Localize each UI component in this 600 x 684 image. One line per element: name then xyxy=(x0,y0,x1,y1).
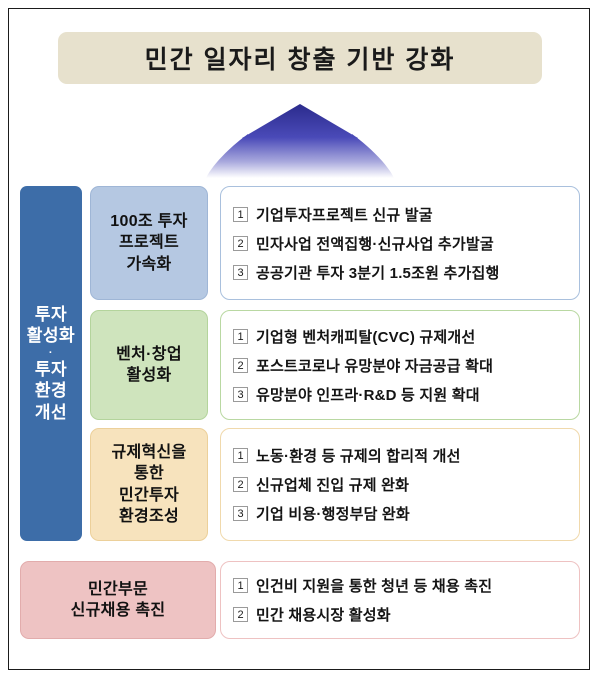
item-text: 기업 비용·행정부담 완화 xyxy=(256,503,410,524)
detail-box-2: 1 기업형 벤처캐피탈(CVC) 규제개선 2 포스트코로나 유망분야 자금공급… xyxy=(220,310,580,420)
list-item: 3 공공기관 투자 3분기 1.5조원 추가집행 xyxy=(233,258,569,287)
list-item: 3 기업 비용·행정부담 완화 xyxy=(233,499,569,528)
sidebar-line-1: 투자 xyxy=(35,305,67,324)
item-text: 기업투자프로젝트 신규 발굴 xyxy=(256,204,433,225)
list-item: 1 노동·환경 등 규제의 합리적 개선 xyxy=(233,441,569,470)
item-number-badge: 1 xyxy=(233,329,248,344)
item-text: 공공기관 투자 3분기 1.5조원 추가집행 xyxy=(256,262,499,283)
category-box-2: 벤처·창업 활성화 xyxy=(90,310,208,420)
category-box-3: 규제혁신을 통한 민간투자 환경조성 xyxy=(90,428,208,541)
item-text: 민간 채용시장 활성화 xyxy=(256,604,391,625)
bottom-category-line-2: 신규채용 촉진 xyxy=(71,602,166,619)
item-number-badge: 3 xyxy=(233,506,248,521)
item-number-badge: 2 xyxy=(233,358,248,373)
category-label-private-hiring: 민간부문 신규채용 촉진 xyxy=(71,579,166,622)
list-item: 1 인건비 지원을 통한 청년 등 채용 촉진 xyxy=(233,571,569,600)
item-number-badge: 2 xyxy=(233,477,248,492)
detail-box-1: 1 기업투자프로젝트 신규 발굴 2 민자사업 전액집행·신규사업 추가발굴 3… xyxy=(220,186,580,300)
category-2-line-1: 벤처·창업 xyxy=(116,346,182,363)
list-item: 1 기업투자프로젝트 신규 발굴 xyxy=(233,200,569,229)
category-box-private-hiring: 민간부문 신규채용 촉진 xyxy=(20,561,216,639)
main-title-box: 민간 일자리 창출 기반 강화 xyxy=(58,32,542,84)
page-title: 민간 일자리 창출 기반 강화 xyxy=(145,40,456,76)
category-label-1: 100조 투자 프로젝트 가속화 xyxy=(110,211,187,275)
category-1-line-1: 100조 투자 xyxy=(110,213,187,230)
sidebar-label: 투자 활성화 · 투자 환경 개선 xyxy=(27,304,75,423)
sidebar-line-2: 활성화 xyxy=(27,326,75,345)
category-label-3: 규제혁신을 통한 민간투자 환경조성 xyxy=(111,442,186,528)
category-3-line-3: 민간투자 xyxy=(119,487,179,504)
item-text: 민자사업 전액집행·신규사업 추가발굴 xyxy=(256,233,494,254)
category-3-line-2: 통한 xyxy=(134,465,164,482)
list-item: 3 유망분야 인프라·R&D 등 지원 확대 xyxy=(233,380,569,409)
infographic-page: 민간 일자리 창출 기반 강화 투자 활성화 · 투자 환경 개선 xyxy=(0,0,600,684)
list-item: 2 민자사업 전액집행·신규사업 추가발굴 xyxy=(233,229,569,258)
detail-box-3: 1 노동·환경 등 규제의 합리적 개선 2 신규업체 진입 규제 완화 3 기… xyxy=(220,428,580,541)
category-3-line-1: 규제혁신을 xyxy=(111,444,186,461)
item-text: 포스트코로나 유망분야 자금공급 확대 xyxy=(256,355,493,376)
upward-arrow-icon xyxy=(180,100,420,180)
category-label-2: 벤처·창업 활성화 xyxy=(116,344,182,387)
sidebar-separator-dot: · xyxy=(27,347,75,359)
item-number-badge: 2 xyxy=(233,607,248,622)
category-1-line-2: 프로젝트 xyxy=(119,234,179,251)
list-item: 2 민간 채용시장 활성화 xyxy=(233,600,569,629)
item-text: 신규업체 진입 규제 완화 xyxy=(256,474,409,495)
item-text: 유망분야 인프라·R&D 등 지원 확대 xyxy=(256,384,480,405)
category-box-1: 100조 투자 프로젝트 가속화 xyxy=(90,186,208,300)
list-item: 1 기업형 벤처캐피탈(CVC) 규제개선 xyxy=(233,322,569,351)
item-number-badge: 3 xyxy=(233,265,248,280)
row-regulatory-innovation: 규제혁신을 통한 민간투자 환경조성 1 노동·환경 등 규제의 합리적 개선 … xyxy=(90,428,600,541)
item-number-badge: 1 xyxy=(233,448,248,463)
bottom-category-line-1: 민간부문 xyxy=(88,581,148,598)
sidebar-investment-activation: 투자 활성화 · 투자 환경 개선 xyxy=(20,186,82,541)
list-item: 2 신규업체 진입 규제 완화 xyxy=(233,470,569,499)
category-3-line-4: 환경조성 xyxy=(119,508,179,525)
item-number-badge: 3 xyxy=(233,387,248,402)
list-item: 2 포스트코로나 유망분야 자금공급 확대 xyxy=(233,351,569,380)
sidebar-line-3: 투자 xyxy=(35,360,67,379)
item-text: 노동·환경 등 규제의 합리적 개선 xyxy=(256,445,461,466)
item-text: 기업형 벤처캐피탈(CVC) 규제개선 xyxy=(256,326,475,347)
item-text: 인건비 지원을 통한 청년 등 채용 촉진 xyxy=(256,575,492,596)
item-number-badge: 1 xyxy=(233,207,248,222)
category-2-line-2: 활성화 xyxy=(126,367,171,384)
sidebar-line-5: 개선 xyxy=(35,403,67,422)
row-investment-project: 100조 투자 프로젝트 가속화 1 기업투자프로젝트 신규 발굴 2 민자사업… xyxy=(90,186,600,300)
row-venture-startup: 벤처·창업 활성화 1 기업형 벤처캐피탈(CVC) 규제개선 2 포스트코로나… xyxy=(90,310,600,420)
detail-box-private-hiring: 1 인건비 지원을 통한 청년 등 채용 촉진 2 민간 채용시장 활성화 xyxy=(220,561,580,639)
item-number-badge: 1 xyxy=(233,578,248,593)
item-number-badge: 2 xyxy=(233,236,248,251)
category-1-line-3: 가속화 xyxy=(126,256,171,273)
sidebar-line-4: 환경 xyxy=(35,381,67,400)
